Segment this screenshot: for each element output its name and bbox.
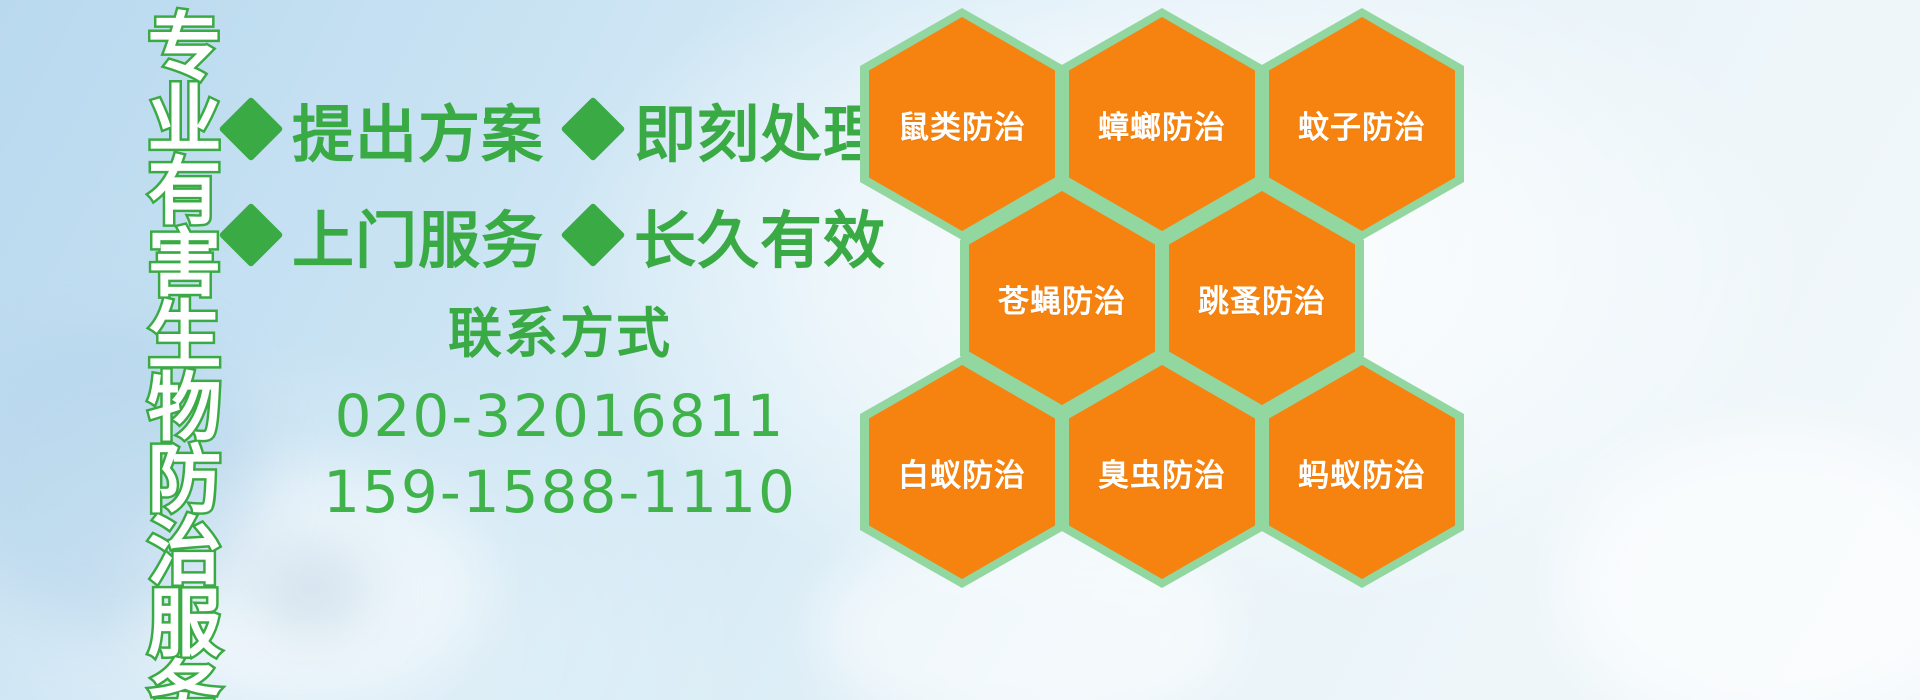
hex-label: 苍蝇防治	[998, 276, 1126, 321]
hex-inner: 臭虫防治	[1069, 365, 1255, 579]
hex-inner: 蟑螂防治	[1069, 17, 1255, 231]
hex-inner: 蚂蚁防治	[1269, 365, 1455, 579]
hex-label: 跳蚤防治	[1198, 276, 1326, 321]
background-blob	[250, 545, 370, 635]
hex-label: 臭虫防治	[1098, 450, 1226, 495]
hex-inner: 鼠类防治	[869, 17, 1055, 231]
hex-label: 白蚁防治	[898, 450, 1026, 495]
feature-list: 提出方案 即刻处理 上门服务 长久有效	[228, 76, 868, 288]
hex-label: 蚊子防治	[1298, 102, 1426, 147]
diamond-icon	[560, 202, 625, 267]
diamond-icon	[218, 202, 283, 267]
contact-title: 联系方式	[240, 300, 880, 368]
service-hexagon-cluster: 鼠类防治 蟑螂防治 蚊子防治 苍蝇防治 跳蚤防治 白蚁防治	[856, 0, 1456, 570]
feature-label: 即刻处理	[634, 84, 886, 174]
hex-inner: 苍蝇防治	[969, 191, 1155, 405]
feature-label: 上门服务	[292, 190, 544, 280]
vertical-headline: 专业有害生物防治服务	[108, 8, 216, 628]
contact-phone-mobile[interactable]: 159-1588-1110	[240, 454, 880, 531]
feature-label: 长久有效	[634, 190, 886, 280]
feature-label: 提出方案	[292, 84, 544, 174]
hex-inner: 白蚁防治	[869, 365, 1055, 579]
background-blob	[1560, 430, 1920, 700]
feature-row-2: 上门服务 长久有效	[228, 182, 868, 288]
contact-block: 联系方式 020-32016811 159-1588-1110	[240, 300, 880, 531]
pest-control-banner: 专业有害生物防治服务 提出方案 即刻处理 上门服务 长久有效 联系方式 020-…	[0, 0, 1920, 700]
contact-phone-landline[interactable]: 020-32016811	[240, 378, 880, 455]
feature-row-1: 提出方案 即刻处理	[228, 76, 868, 182]
hex-inner: 蚊子防治	[1269, 17, 1455, 231]
diamond-icon	[560, 96, 625, 161]
diamond-icon	[218, 96, 283, 161]
hex-label: 蚂蚁防治	[1298, 450, 1426, 495]
hex-inner: 跳蚤防治	[1169, 191, 1355, 405]
hex-label: 鼠类防治	[898, 102, 1026, 147]
hex-label: 蟑螂防治	[1098, 102, 1226, 147]
